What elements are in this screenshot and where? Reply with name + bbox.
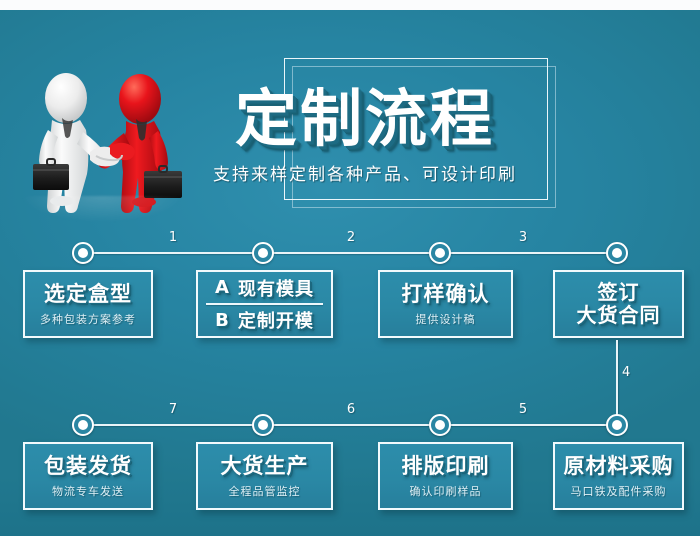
- connector-number-5: 5: [503, 402, 543, 417]
- flow-row-top: 1 2 3 选定盒型 多种包装方案参考 A 现有模具 B 定制开模 打样确认 提…: [0, 240, 700, 360]
- step-subtitle: 提供设计稿: [416, 311, 476, 327]
- flow-node-1: [72, 242, 94, 264]
- step-box-layout-printing[interactable]: 排版印刷 确认印刷样品: [378, 442, 513, 510]
- page-root: 定制流程 支持来样定制各种产品、可设计印刷 1 2 3 选定盒型 多种包装方案参…: [0, 0, 700, 536]
- step-subtitle: 马口铁及配件采购: [571, 483, 667, 499]
- hero-banner: 定制流程 支持来样定制各种产品、可设计印刷: [0, 10, 700, 220]
- flow-node-4: [606, 242, 628, 264]
- step-title: 排版印刷: [402, 454, 490, 479]
- connector-number-6: 6: [331, 402, 371, 417]
- step-title: 打样确认: [402, 282, 490, 307]
- step-box-mold-options[interactable]: A 现有模具 B 定制开模: [196, 270, 333, 338]
- flow-node-6: [252, 414, 274, 436]
- step-box-sample-confirm[interactable]: 打样确认 提供设计稿: [378, 270, 513, 338]
- flow-row-bottom: 7 6 5 包装发货 物流专车发送 大货生产 全程品管监控 排版印刷 确认印刷样…: [0, 412, 700, 532]
- connector-number-1: 1: [153, 230, 193, 245]
- step-box-material-purchase[interactable]: 原材料采购 马口铁及配件采购: [553, 442, 684, 510]
- step-title: 大货生产: [221, 454, 309, 479]
- option-mark-a: A: [215, 277, 230, 298]
- step-box-pack-ship[interactable]: 包装发货 物流专车发送: [23, 442, 153, 510]
- step-title: 选定盒型: [44, 282, 132, 307]
- flow-rail-top: [83, 252, 617, 254]
- connector-number-7: 7: [153, 402, 193, 417]
- flow-rail-bottom: [83, 424, 617, 426]
- red-figure: [98, 74, 183, 213]
- connector-number-3: 3: [503, 230, 543, 245]
- step-title: 原材料采购: [564, 454, 674, 479]
- step-subtitle: 全程品管监控: [229, 483, 301, 499]
- option-mark-b: B: [215, 310, 230, 331]
- flow-node-3: [429, 242, 451, 264]
- flow-node-5: [429, 414, 451, 436]
- page-title: 定制流程: [190, 86, 540, 152]
- step-subtitle: 确认印刷样品: [410, 483, 482, 499]
- option-row-a[interactable]: A 现有模具: [198, 272, 331, 303]
- step-title-line2: 大货合同: [577, 304, 661, 327]
- step-subtitle: 多种包装方案参考: [40, 311, 136, 327]
- step-box-mass-production[interactable]: 大货生产 全程品管监控: [196, 442, 333, 510]
- step-subtitle: 物流专车发送: [52, 483, 124, 499]
- step-title-line1: 签订: [598, 281, 640, 304]
- option-row-b[interactable]: B 定制开模: [198, 305, 331, 336]
- option-label-b: 定制开模: [238, 307, 314, 333]
- connector-number-4: 4: [622, 365, 630, 380]
- step-box-sign-contract[interactable]: 签订 大货合同: [553, 270, 684, 338]
- flow-node-2: [252, 242, 274, 264]
- connector-number-2: 2: [331, 230, 371, 245]
- option-label-a: 现有模具: [238, 275, 314, 301]
- page-subtitle: 支持来样定制各种产品、可设计印刷: [178, 160, 552, 185]
- figure-reflection: [22, 196, 182, 222]
- flow-node-7: [72, 414, 94, 436]
- flow-node-4b: [606, 414, 628, 436]
- white-figure: [33, 73, 111, 213]
- step-box-select-box-type[interactable]: 选定盒型 多种包装方案参考: [23, 270, 153, 338]
- step-title: 包装发货: [44, 454, 132, 479]
